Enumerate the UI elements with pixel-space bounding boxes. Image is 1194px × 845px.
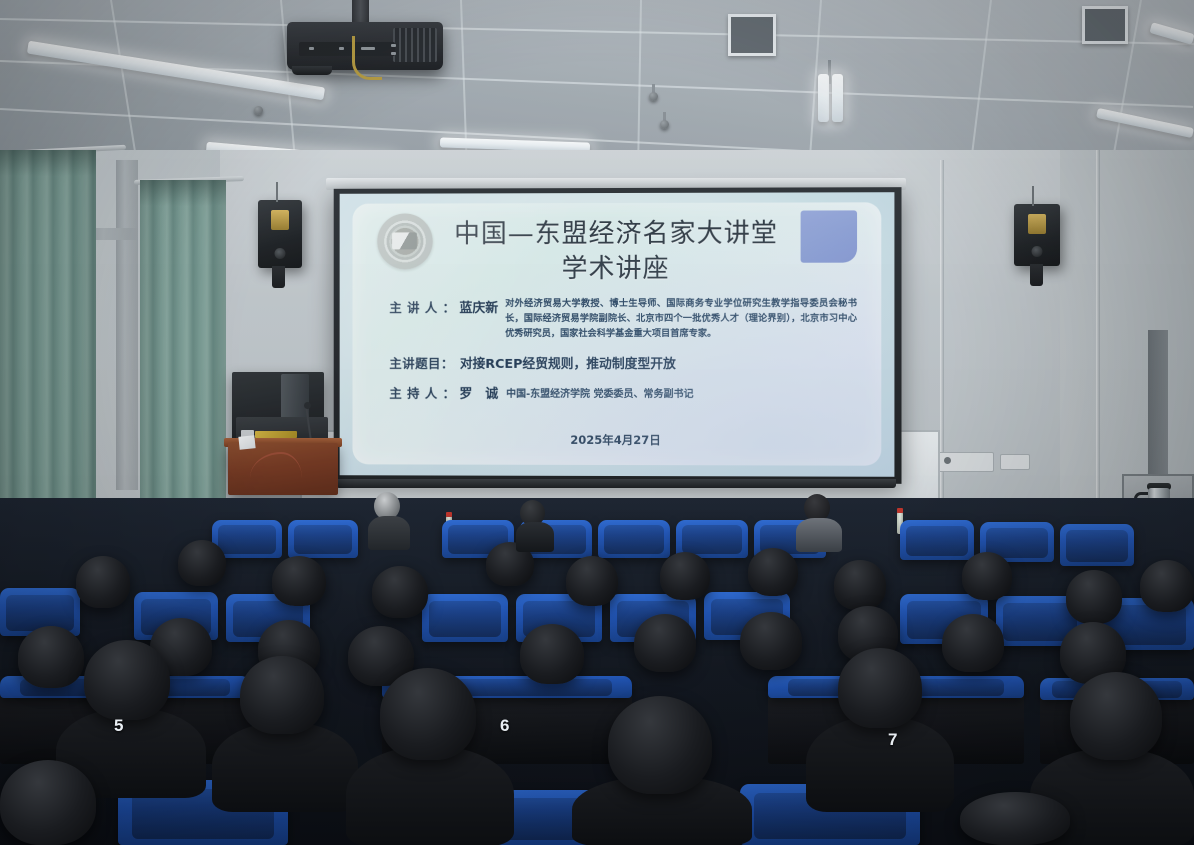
wall-speaker-icon — [258, 200, 302, 268]
slide-speaker-name: 蓝庆新 — [459, 297, 498, 316]
slide-body: 主 讲 人 ： 蓝庆新 对外经济贸易大学教授、博士生导师、国际商务专业学位研究生… — [389, 297, 857, 410]
audience-head — [838, 648, 922, 728]
audience-head — [748, 548, 798, 596]
seat-number-6: 6 — [500, 716, 510, 736]
audience-head — [608, 696, 712, 794]
ceiling-vent-icon — [728, 14, 776, 56]
seat-number-7: 7 — [888, 730, 898, 750]
auditorium-seat — [1060, 524, 1134, 566]
audience-shoulders — [806, 716, 954, 812]
seat-number-5: 5 — [114, 716, 124, 736]
audience-head — [380, 668, 476, 760]
slide-topic-text: 对接RCEP经贸规则，推动制度型开放 — [460, 353, 676, 372]
audience-head — [834, 560, 886, 610]
audience-head — [962, 552, 1012, 600]
audience-head — [272, 556, 326, 606]
slide-title: 中国—东盟经济名家大讲堂 学术讲座 — [353, 217, 881, 287]
audience-head — [18, 626, 84, 688]
slide-title-line1: 中国—东盟经济名家大讲堂 — [353, 217, 881, 252]
lecture-slide: 中国—东盟经济名家大讲堂 学术讲座 主 讲 人 ： 蓝庆新 对外经济贸易大学教授… — [353, 202, 881, 465]
audience-head — [634, 614, 696, 672]
sprinkler-head-icon — [254, 106, 263, 115]
av-tower — [281, 374, 309, 420]
auditorium-seat — [288, 520, 358, 558]
audience-head — [76, 556, 130, 608]
microphone-head — [304, 402, 311, 409]
window-curtain-icon — [140, 180, 226, 550]
audience-head — [84, 640, 170, 720]
lecture-hall-photo: 中国—东盟经济名家大讲堂 学术讲座 主 讲 人 ： 蓝庆新 对外经济贸易大学教授… — [0, 0, 1194, 845]
slide-host-org: 中国-东盟经济学院 党委委员、常务副书记 — [506, 385, 693, 400]
auditorium-seat — [422, 594, 508, 642]
projection-screen: 中国—东盟经济名家大讲堂 学术讲座 主 讲 人 ： 蓝庆新 对外经济贸易大学教授… — [334, 187, 902, 484]
ceiling-light-icon — [832, 74, 843, 122]
slide-title-line2: 学术讲座 — [353, 251, 881, 286]
slide-speaker-row: 主 讲 人 ： 蓝庆新 对外经济贸易大学教授、博士生导师、国际商务专业学位研究生… — [389, 297, 857, 342]
audience-head — [1140, 560, 1194, 612]
audience-head — [960, 792, 1070, 845]
slide-topic-label: 主讲题目： — [389, 353, 453, 372]
sprinkler-head-icon — [660, 120, 669, 129]
ceiling-vent-icon — [1082, 6, 1128, 44]
slide-topic-row: 主讲题目： 对接RCEP经贸规则，推动制度型开放 — [389, 353, 857, 372]
audience-head — [942, 614, 1004, 672]
auditorium-seat — [900, 520, 974, 560]
wall-outlet-plate — [1000, 454, 1030, 470]
wall-speaker-icon — [1014, 204, 1060, 266]
audience-shoulders — [346, 746, 514, 845]
screen-bottom-bar — [336, 479, 896, 488]
audience-head — [178, 540, 226, 586]
projector-lens — [292, 66, 332, 75]
av-indicator-strip — [255, 431, 297, 438]
wall-pillar — [116, 160, 138, 490]
window-curtain-icon — [0, 150, 96, 550]
slide-speaker-label: 主 讲 人 ： — [389, 297, 455, 316]
podium-paper — [238, 435, 255, 450]
audience-head — [1066, 570, 1122, 624]
slide-host-name: 罗 诚 — [459, 383, 498, 402]
slide-speaker-bio: 对外经济贸易大学教授、博士生导师、国际商务专业学位研究生教学指导委员会秘书长，国… — [505, 297, 857, 342]
audience-head — [566, 556, 618, 606]
slide-host-row: 主 持 人 ： 罗 诚 中国-东盟经济学院 党委委员、常务副书记 — [389, 383, 857, 403]
audience-head — [0, 760, 96, 845]
audience-head — [1070, 672, 1162, 760]
projector-cable — [352, 36, 382, 80]
audience-head — [372, 566, 428, 618]
audience-head — [660, 552, 710, 600]
audience-shoulders — [212, 722, 358, 812]
slide-host-label: 主 持 人 ： — [389, 383, 455, 402]
auditorium-seat — [598, 520, 670, 558]
audience-head — [240, 656, 324, 734]
ceiling-light-icon — [818, 74, 829, 122]
slide-date: 2025年4月27日 — [353, 431, 881, 448]
audience-head — [740, 612, 802, 670]
sprinkler-head-icon — [649, 92, 658, 101]
audience-head — [520, 624, 584, 684]
